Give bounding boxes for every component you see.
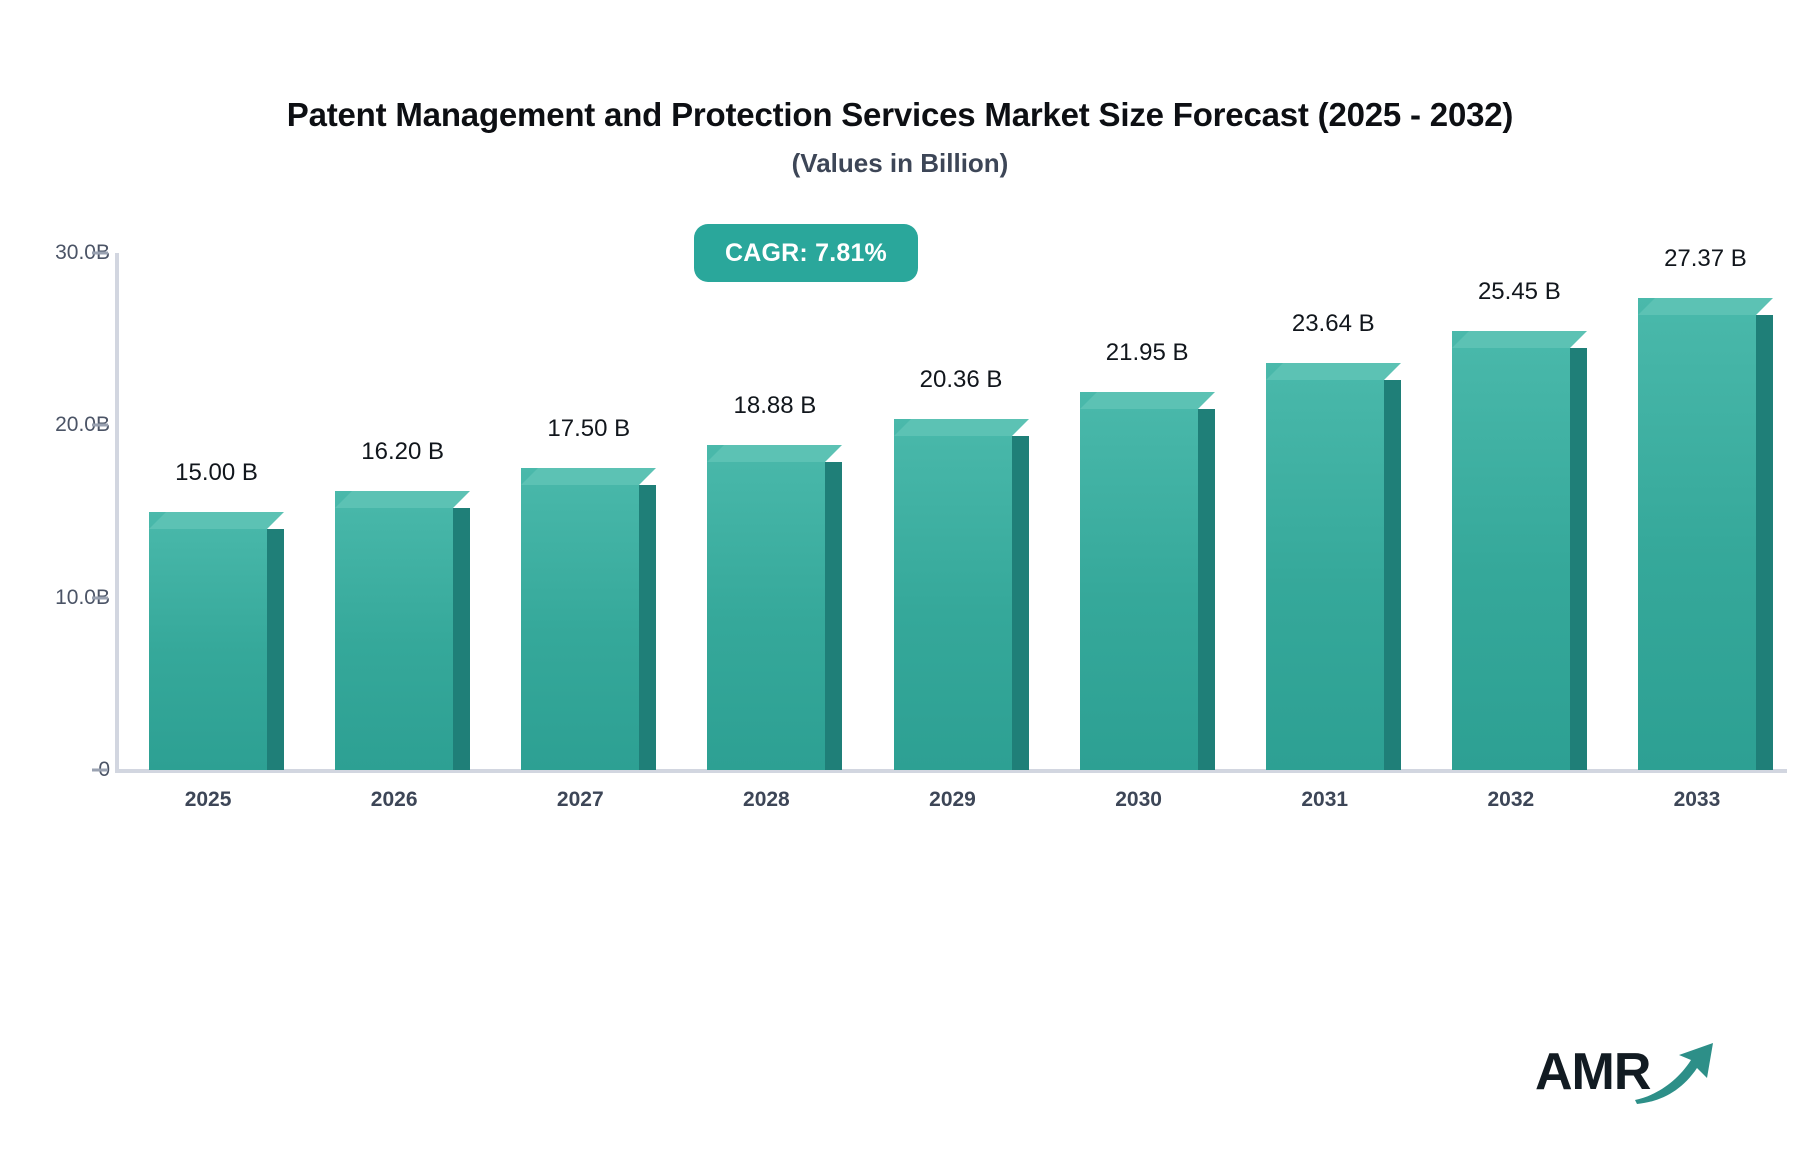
plot-area: 15.00 B16.20 B17.50 B18.88 B20.36 B21.95…	[115, 253, 1790, 770]
bar-front-face	[335, 491, 453, 770]
bar-side-face	[1384, 380, 1401, 770]
bar-front-face	[149, 512, 267, 771]
bar-top-face	[1452, 331, 1587, 348]
bar[interactable]	[1266, 363, 1384, 770]
bar-side-face	[1570, 348, 1587, 770]
bar-value-label: 18.88 B	[734, 392, 817, 420]
bar-front-face	[894, 419, 1012, 770]
growth-arrow-icon	[1633, 1038, 1723, 1113]
x-axis-tick-label: 2026	[371, 788, 418, 812]
x-axis-tick-label: 2029	[929, 788, 976, 812]
bar-front-face	[1080, 392, 1198, 770]
bar-top-face	[335, 491, 470, 508]
x-axis-tick-label: 2031	[1301, 788, 1348, 812]
bar-side-face	[1756, 315, 1773, 770]
bar-top-face	[1080, 392, 1215, 409]
bar-side-face	[1198, 409, 1215, 770]
bar-top-face	[1638, 298, 1773, 315]
chart-title: Patent Management and Protection Service…	[0, 96, 1800, 134]
bar-side-face	[825, 462, 842, 770]
bar-front-face	[521, 468, 639, 770]
bar-side-face	[453, 508, 470, 770]
chart-subtitle: (Values in Billion)	[0, 148, 1800, 179]
x-axis-tick-label: 2027	[557, 788, 604, 812]
bar-value-label: 16.20 B	[361, 438, 444, 466]
bar[interactable]	[707, 445, 825, 770]
bar[interactable]	[1638, 298, 1756, 770]
bar-side-face	[1012, 436, 1029, 770]
bar[interactable]	[894, 419, 1012, 770]
bar-top-face	[894, 419, 1029, 436]
bar-value-label: 21.95 B	[1106, 339, 1189, 367]
y-axis-tick-mark	[92, 596, 108, 599]
bar[interactable]	[1080, 392, 1198, 770]
bar-top-face	[1266, 363, 1401, 380]
bar[interactable]	[1452, 331, 1570, 770]
x-axis-tick-label: 2028	[743, 788, 790, 812]
bar-value-label: 15.00 B	[175, 459, 258, 487]
bar-value-label: 27.37 B	[1664, 245, 1747, 273]
x-axis-tick-label: 2033	[1674, 788, 1721, 812]
y-axis-tick-mark	[92, 252, 108, 255]
bar[interactable]	[521, 468, 639, 770]
y-axis-tick-mark	[92, 424, 108, 427]
bar-top-face	[521, 468, 656, 485]
amr-logo: AMR	[1535, 1038, 1725, 1118]
y-axis-tick-mark	[92, 769, 108, 772]
bar-side-face	[639, 485, 656, 770]
x-axis-tick-label: 2032	[1487, 788, 1534, 812]
bar-value-label: 25.45 B	[1478, 278, 1561, 306]
bar-front-face	[1266, 363, 1384, 770]
bar-value-label: 17.50 B	[547, 415, 630, 443]
bar-front-face	[1452, 331, 1570, 770]
bar-front-face	[707, 445, 825, 770]
bar-front-face	[1638, 298, 1756, 770]
bar-top-face	[149, 512, 284, 529]
bar-value-label: 23.64 B	[1292, 310, 1375, 338]
x-axis-tick-label: 2025	[185, 788, 232, 812]
x-axis-tick-label: 2030	[1115, 788, 1162, 812]
chart-canvas: Patent Management and Protection Service…	[0, 0, 1800, 1156]
bar[interactable]	[149, 512, 267, 771]
bar-value-label: 20.36 B	[920, 366, 1003, 394]
bar[interactable]	[335, 491, 453, 770]
bar-side-face	[267, 529, 284, 771]
bar-top-face	[707, 445, 842, 462]
